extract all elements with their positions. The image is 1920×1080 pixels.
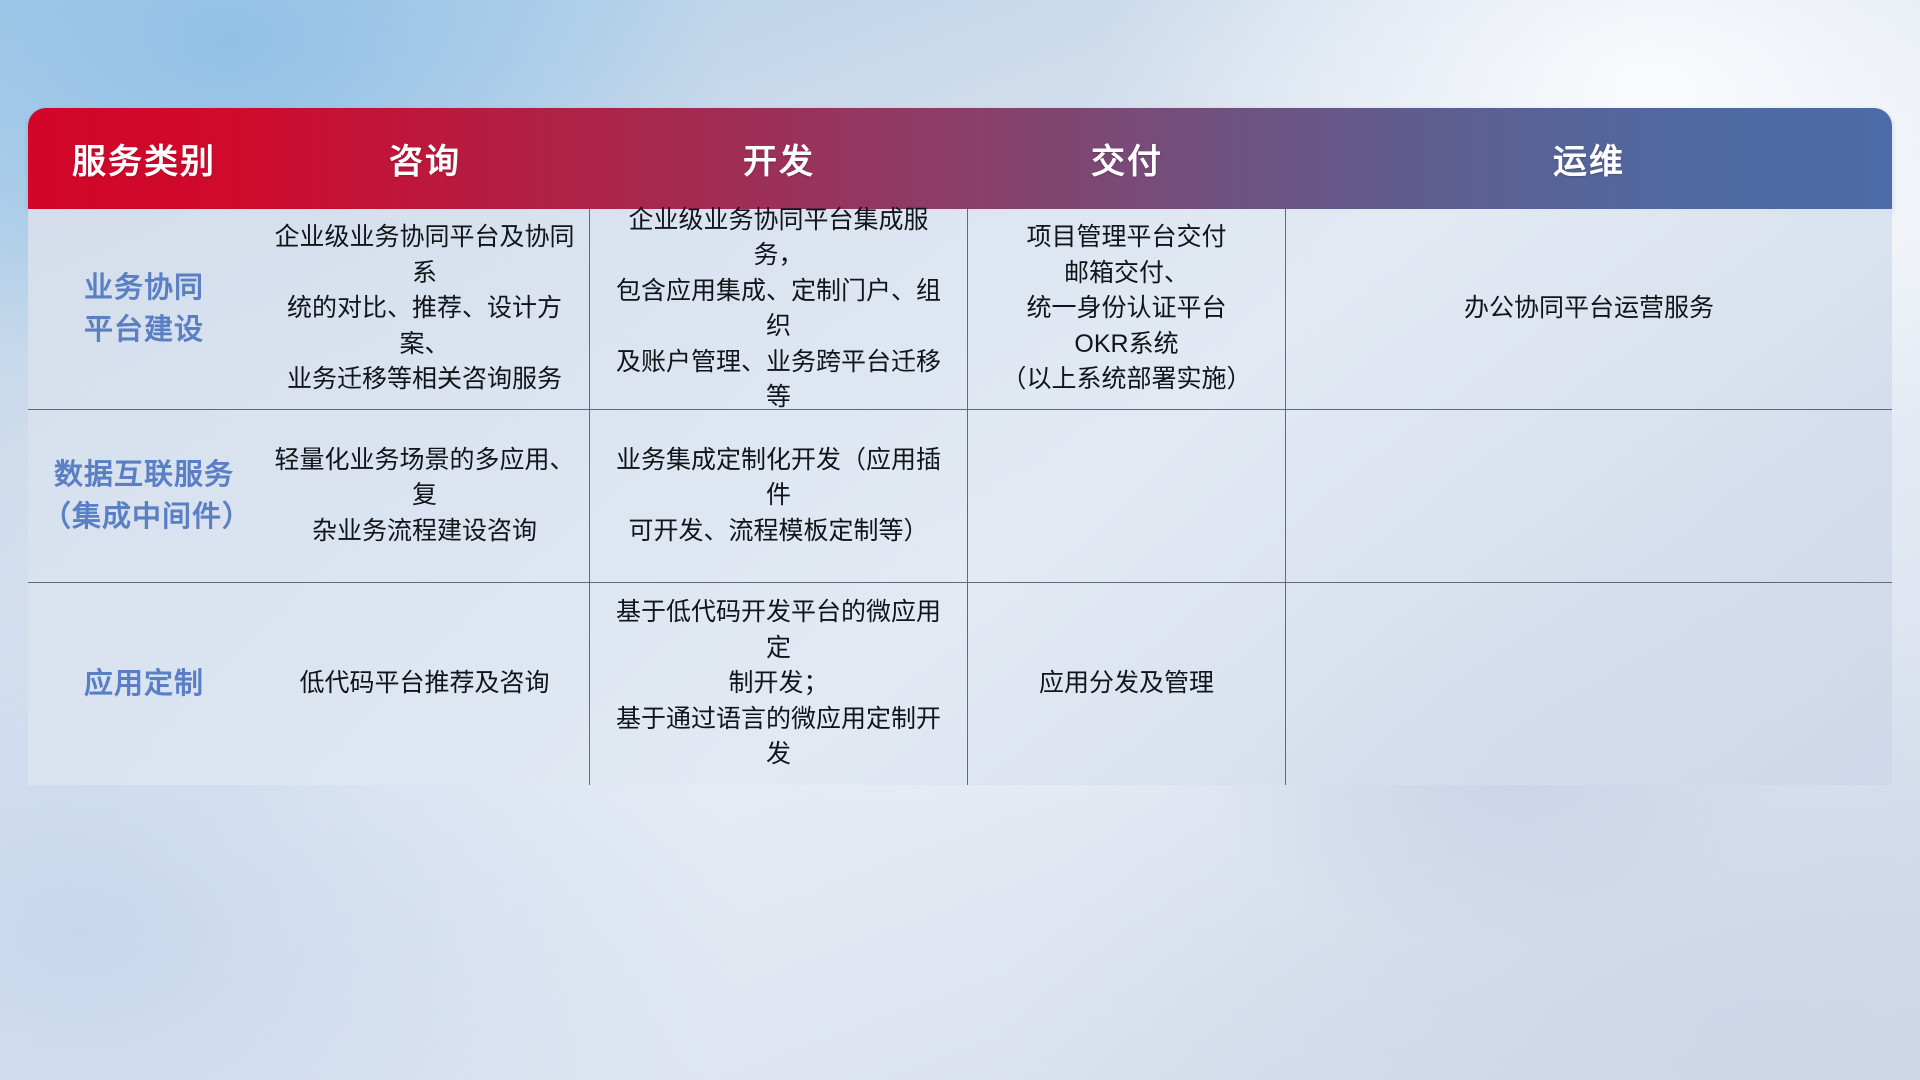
cell-delivery	[968, 410, 1286, 582]
row-category-label: 数据互联服务 （集成中间件）	[28, 410, 260, 582]
row-category-label: 应用定制	[28, 583, 260, 785]
cell-development: 企业级业务协同平台集成服务， 包含应用集成、定制门户、组织 及账户管理、业务跨平…	[590, 209, 968, 409]
cell-delivery: 应用分发及管理	[968, 583, 1286, 785]
table-row: 业务协同 平台建设 企业级业务协同平台及协同系 统的对比、推荐、设计方案、 业务…	[28, 209, 1892, 410]
cell-operations	[1286, 583, 1892, 785]
column-header-development: 开发	[590, 108, 968, 209]
cell-consulting: 企业级业务协同平台及协同系 统的对比、推荐、设计方案、 业务迁移等相关咨询服务	[260, 209, 590, 409]
column-header-service-category: 服务类别	[28, 108, 260, 209]
column-header-delivery: 交付	[968, 108, 1286, 209]
column-header-operations: 运维	[1286, 108, 1892, 209]
column-header-consulting: 咨询	[260, 108, 590, 209]
cell-consulting: 轻量化业务场景的多应用、复 杂业务流程建设咨询	[260, 410, 590, 582]
cell-development: 基于低代码开发平台的微应用定 制开发； 基于通过语言的微应用定制开发	[590, 583, 968, 785]
table-body: 业务协同 平台建设 企业级业务协同平台及协同系 统的对比、推荐、设计方案、 业务…	[28, 209, 1892, 785]
cell-operations: 办公协同平台运营服务	[1286, 209, 1892, 409]
table-row: 数据互联服务 （集成中间件） 轻量化业务场景的多应用、复 杂业务流程建设咨询 业…	[28, 410, 1892, 583]
table-row: 应用定制 低代码平台推荐及咨询 基于低代码开发平台的微应用定 制开发； 基于通过…	[28, 583, 1892, 785]
row-category-label: 业务协同 平台建设	[28, 209, 260, 409]
cell-consulting: 低代码平台推荐及咨询	[260, 583, 590, 785]
cell-development: 业务集成定制化开发（应用插件 可开发、流程模板定制等）	[590, 410, 968, 582]
table-header-row: 服务类别 咨询 开发 交付 运维	[28, 108, 1892, 209]
cell-operations	[1286, 410, 1892, 582]
service-matrix-table: 服务类别 咨询 开发 交付 运维 业务协同 平台建设 企业级业务协同平台及协同系…	[28, 108, 1892, 785]
cell-delivery: 项目管理平台交付 邮箱交付、 统一身份认证平台 OKR系统 （以上系统部署实施）	[968, 209, 1286, 409]
